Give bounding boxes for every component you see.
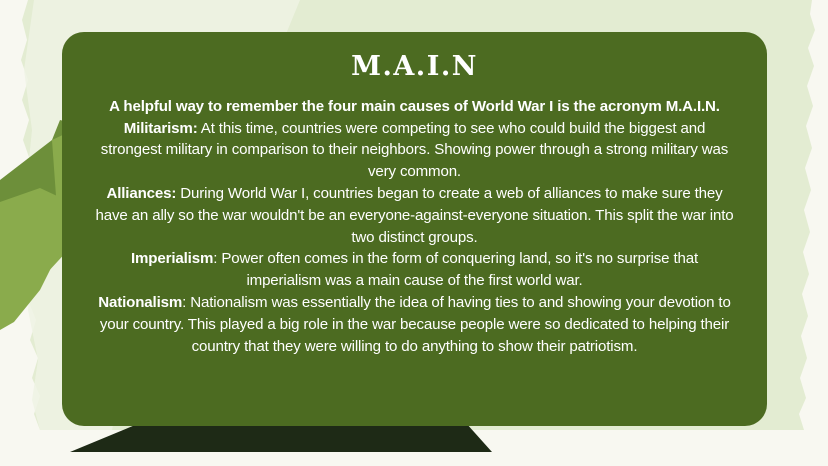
term-nationalism: Nationalism (98, 294, 182, 311)
term-militarism: Militarism: (124, 120, 198, 137)
paragraph-imperialism: Imperialism: Power often comes in the fo… (90, 248, 739, 292)
paragraph-imperialism-text: Power often comes in the form of conquer… (221, 250, 698, 289)
paragraph-intro: A helpful way to remember the four main … (90, 96, 739, 118)
paragraph-nationalism-text: Nationalism was essentially the idea of … (100, 294, 731, 355)
paragraph-alliances-text: During World War I, countries began to c… (96, 185, 734, 246)
paragraph-nationalism: Nationalism: Nationalism was essentially… (90, 292, 739, 357)
term-imperialism: Imperialism (131, 250, 213, 267)
page-title: M.A.I.N (90, 50, 739, 84)
content-card: M.A.I.N A helpful way to remember the fo… (62, 32, 767, 426)
paragraph-intro-text: A helpful way to remember the four main … (109, 98, 720, 115)
card-body-text: A helpful way to remember the four main … (90, 96, 739, 358)
slide-canvas: M.A.I.N A helpful way to remember the fo… (0, 0, 828, 466)
paragraph-alliances: Alliances: During World War I, countries… (90, 183, 739, 248)
term-alliances: Alliances: (106, 185, 176, 202)
paragraph-militarism: Militarism: At this time, countries were… (90, 118, 739, 183)
